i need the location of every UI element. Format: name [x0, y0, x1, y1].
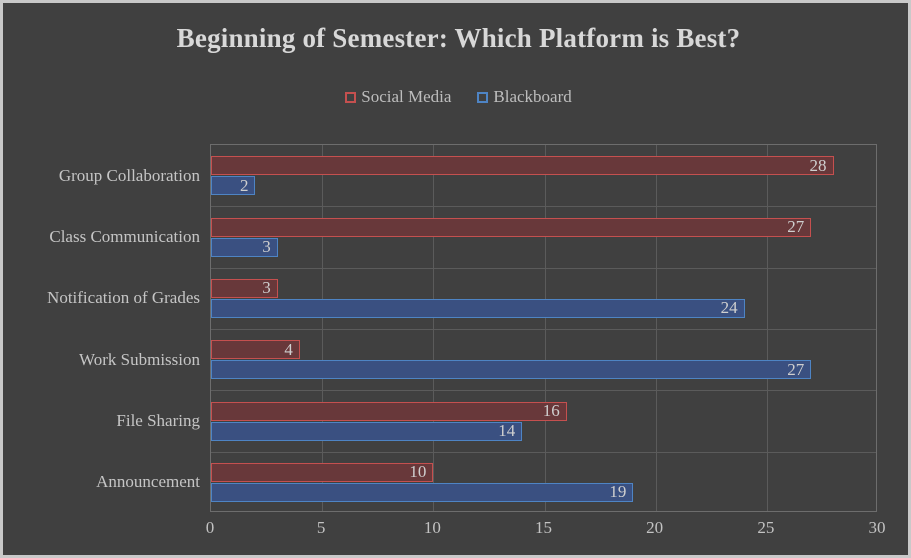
legend-item-label: Blackboard [493, 87, 571, 107]
bar-1-3[interactable]: 24 [211, 299, 745, 318]
vertical-gridline [322, 145, 323, 511]
x-axis-tick-label: 10 [424, 519, 441, 536]
legend-swatch-icon [477, 92, 488, 103]
category-label-2: Work Submission [79, 351, 200, 368]
category-label-3: Notification of Grades [47, 289, 200, 306]
chart-container: Beginning of Semester: Which Platform is… [0, 0, 911, 558]
bar-value-label: 27 [787, 361, 804, 378]
bar-0-4[interactable]: 27 [211, 218, 811, 237]
category-label-4: Class Communication [49, 228, 200, 245]
x-axis-tick-label: 5 [317, 519, 326, 536]
bar-1-0[interactable]: 19 [211, 483, 633, 502]
legend-swatch-icon [345, 92, 356, 103]
vertical-gridline [545, 145, 546, 511]
bar-value-label: 14 [498, 422, 515, 439]
bar-value-label: 10 [409, 463, 426, 480]
bar-1-5[interactable]: 2 [211, 176, 255, 195]
bar-value-label: 28 [810, 157, 827, 174]
category-separator-gridline [211, 452, 876, 453]
x-axis-tick-label: 30 [869, 519, 886, 536]
x-axis-tick-label: 25 [757, 519, 774, 536]
category-axis: AnnouncementFile SharingWork SubmissionN… [3, 144, 200, 512]
category-label-1: File Sharing [116, 412, 200, 429]
x-axis-tick-label: 20 [646, 519, 663, 536]
bar-value-label: 3 [262, 238, 271, 255]
legend-item-0[interactable]: Social Media [345, 87, 451, 107]
chart-title: Beginning of Semester: Which Platform is… [3, 23, 911, 54]
bar-0-2[interactable]: 4 [211, 340, 300, 359]
x-axis-tick-label: 15 [535, 519, 552, 536]
bar-0-3[interactable]: 3 [211, 279, 278, 298]
bar-value-label: 27 [787, 218, 804, 235]
bar-1-4[interactable]: 3 [211, 238, 278, 257]
vertical-gridline [656, 145, 657, 511]
bar-value-label: 16 [543, 402, 560, 419]
legend-item-label: Social Media [361, 87, 451, 107]
bar-0-0[interactable]: 10 [211, 463, 433, 482]
bar-value-label: 24 [721, 299, 738, 316]
bar-value-label: 4 [284, 341, 293, 358]
bar-1-2[interactable]: 27 [211, 360, 811, 379]
category-separator-gridline [211, 206, 876, 207]
category-separator-gridline [211, 268, 876, 269]
bar-1-1[interactable]: 14 [211, 422, 522, 441]
legend-item-1[interactable]: Blackboard [477, 87, 571, 107]
category-separator-gridline [211, 329, 876, 330]
chart-legend: Social MediaBlackboard [3, 87, 911, 107]
bar-0-5[interactable]: 28 [211, 156, 834, 175]
vertical-gridline [767, 145, 768, 511]
bar-0-1[interactable]: 16 [211, 402, 567, 421]
category-label-5: Group Collaboration [59, 167, 200, 184]
vertical-gridline [433, 145, 434, 511]
bar-value-label: 19 [609, 483, 626, 500]
x-axis-tick-label: 0 [206, 519, 215, 536]
category-separator-gridline [211, 390, 876, 391]
plot-area: 10191614427324273282 [210, 144, 877, 512]
bar-value-label: 2 [240, 177, 249, 194]
category-label-0: Announcement [96, 473, 200, 490]
bar-value-label: 3 [262, 279, 271, 296]
